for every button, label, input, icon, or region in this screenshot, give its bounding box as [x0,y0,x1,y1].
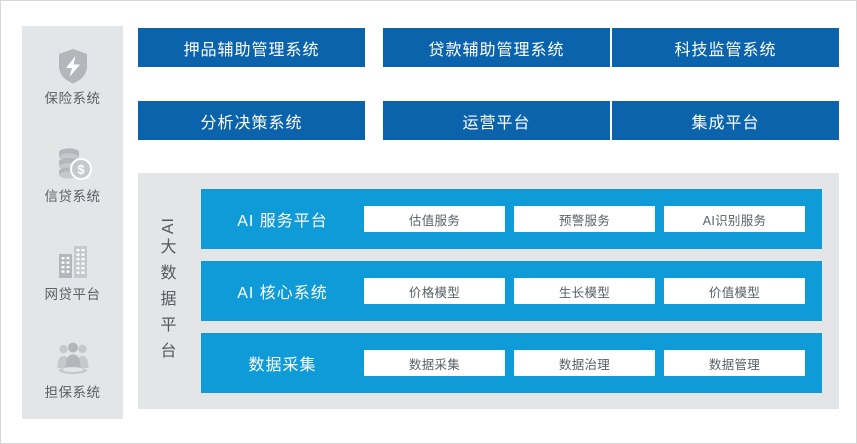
platform-card[interactable]: 数据采集 [364,350,505,376]
buildings-icon [52,241,94,283]
platform-vertical-label-char: 台 [160,339,177,365]
platform-vertical-label-char: 数 [160,261,177,287]
platform-row-cards: 数据采集 数据治理 数据管理 [364,350,822,376]
sidebar-panel: 保险系统 $ 信贷系统 [22,26,123,419]
platform-vertical-label-prefix: AI [160,217,178,234]
sidebar-item-label: 保险系统 [45,92,101,106]
platform-card[interactable]: 数据管理 [664,350,805,376]
platform-vertical-label-char: 据 [160,287,177,313]
sidebar-item-label: 网贷平台 [45,288,101,302]
sidebar-item-insurance[interactable]: 保险系统 [22,26,123,124]
sidebar-item-guarantee[interactable]: 担保系统 [22,320,123,418]
people-group-icon [52,339,94,381]
platform-row-ai-service: AI 服务平台 估值服务 预警服务 AI识别服务 [201,189,822,249]
coin-stack-dollar-icon: $ [52,143,94,185]
platform-card[interactable]: 生长模型 [514,278,655,304]
ai-bigdata-platform-panel: AI 大 数 据 平 台 AI 服务平台 估值服务 预警服务 AI识别服务 AI… [138,173,839,409]
top-system-label: 贷款辅助管理系统 [428,36,564,60]
platform-row-ai-core: AI 核心系统 价格模型 生长模型 价值模型 [201,261,822,321]
top-system-label: 集成平台 [691,109,759,133]
platform-row-data-collection: 数据采集 数据采集 数据治理 数据管理 [201,333,822,393]
top-system-analysis-decision[interactable]: 分析决策系统 [138,101,365,140]
platform-row-title: AI 核心系统 [201,279,364,303]
sidebar-item-online-lending[interactable]: 网贷平台 [22,222,123,320]
shield-bolt-icon [52,45,94,87]
platform-card[interactable]: 估值服务 [364,206,505,232]
top-system-label: 押品辅助管理系统 [183,36,319,60]
top-system-integration-platform[interactable]: 集成平台 [612,101,839,140]
platform-card[interactable]: 价值模型 [664,278,805,304]
platform-vertical-label-char: 大 [160,235,177,261]
top-system-loan-aux-mgmt[interactable]: 贷款辅助管理系统 [383,28,610,67]
platform-card[interactable]: AI识别服务 [664,206,805,232]
platform-card[interactable]: 预警服务 [514,206,655,232]
top-system-label: 运营平台 [462,109,530,133]
sidebar-item-credit[interactable]: $ 信贷系统 [22,124,123,222]
top-system-tech-regulation[interactable]: 科技监管系统 [612,28,839,67]
architecture-diagram: 保险系统 $ 信贷系统 [0,0,857,444]
top-system-collateral-aux-mgmt[interactable]: 押品辅助管理系统 [138,28,365,67]
top-system-label: 科技监管系统 [674,36,776,60]
platform-card[interactable]: 数据治理 [514,350,655,376]
platform-row-title: AI 服务平台 [201,207,364,231]
sidebar-item-label: 担保系统 [45,386,101,400]
svg-text:$: $ [77,162,85,177]
platform-vertical-label: AI 大 数 据 平 台 [154,189,184,393]
sidebar-item-label: 信贷系统 [45,190,101,204]
platform-row-cards: 价格模型 生长模型 价值模型 [364,278,822,304]
platform-card[interactable]: 价格模型 [364,278,505,304]
top-system-label: 分析决策系统 [200,109,302,133]
platform-row-title: 数据采集 [201,351,364,375]
top-system-operations-platform[interactable]: 运营平台 [383,101,610,140]
platform-vertical-label-char: 平 [160,313,177,339]
platform-row-cards: 估值服务 预警服务 AI识别服务 [364,206,822,232]
